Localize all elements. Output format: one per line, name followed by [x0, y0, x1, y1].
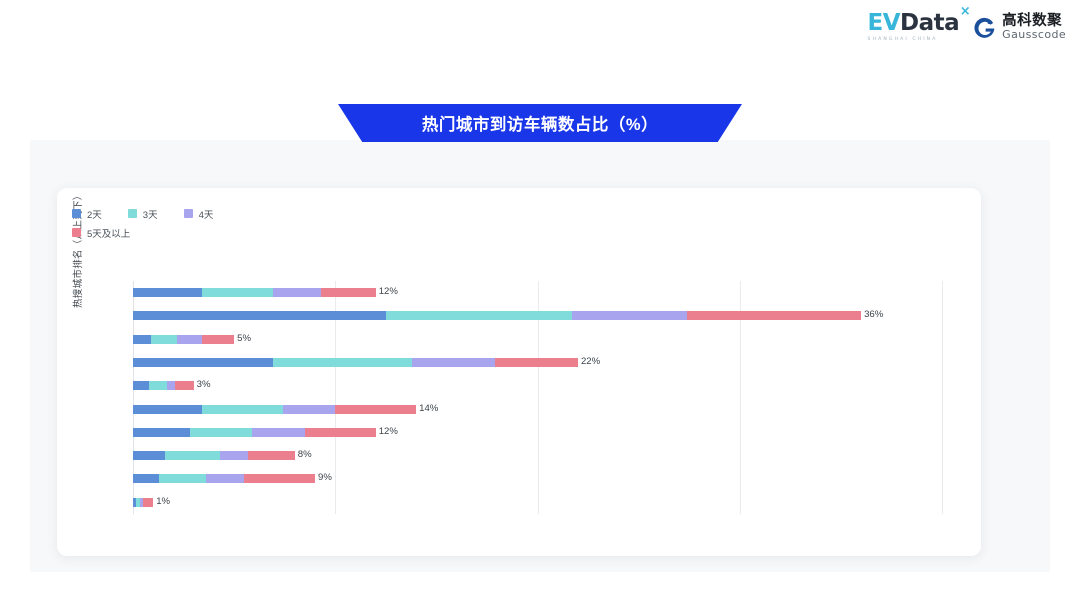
bar-segment-0[interactable]	[133, 288, 202, 297]
bar-segment-2[interactable]	[177, 335, 201, 344]
legend-item-1[interactable]: 3天	[128, 207, 158, 220]
bar-value-label: 12%	[376, 284, 398, 300]
legend-swatch-icon	[72, 209, 81, 218]
bar-segment-3[interactable]	[305, 428, 376, 437]
stacked-bar[interactable]	[133, 405, 416, 414]
bar-segment-0[interactable]	[133, 358, 273, 367]
bar-segment-0[interactable]	[133, 451, 165, 460]
gridline-40	[942, 281, 943, 514]
bar-segment-1[interactable]	[159, 474, 206, 483]
bar-segment-3[interactable]	[244, 474, 315, 483]
bar-row: 嘉兴22%	[133, 351, 942, 374]
stacked-bar[interactable]	[133, 358, 578, 367]
bar-segment-1[interactable]	[273, 358, 413, 367]
bar-segment-2[interactable]	[252, 428, 305, 437]
legend-item-label: 4天	[199, 207, 214, 221]
bar-value-label: 22%	[578, 354, 600, 370]
bar-segment-1[interactable]	[165, 451, 220, 460]
legend-item-3[interactable]: 5天及以上	[72, 226, 130, 239]
bar-segment-0[interactable]	[133, 335, 151, 344]
stacked-bar[interactable]	[133, 498, 153, 507]
bar-segment-2[interactable]	[206, 474, 244, 483]
bar-segment-2[interactable]	[273, 288, 322, 297]
bar-segment-0[interactable]	[133, 405, 202, 414]
bar-value-label: 9%	[315, 470, 332, 486]
bar-segment-3[interactable]	[495, 358, 578, 367]
chart-legend: 2天3天4天5天及以上	[72, 207, 472, 239]
bar-segment-3[interactable]	[143, 498, 153, 507]
stacked-bar[interactable]	[133, 474, 315, 483]
bar-segment-0[interactable]	[133, 381, 149, 390]
bar-segment-1[interactable]	[190, 428, 253, 437]
stacked-bar[interactable]	[133, 381, 194, 390]
stacked-bar[interactable]	[133, 335, 234, 344]
legend-swatch-icon	[128, 209, 137, 218]
legend-swatch-icon	[72, 228, 81, 237]
legend-item-2[interactable]: 4天	[184, 207, 214, 220]
bar-segment-1[interactable]	[151, 335, 177, 344]
bar-segment-0[interactable]	[133, 428, 190, 437]
stacked-bar[interactable]	[133, 288, 376, 297]
bar-segment-1[interactable]	[386, 311, 572, 320]
bar-value-label: 5%	[234, 331, 251, 347]
bar-row: 绍兴9%	[133, 467, 942, 490]
bar-segment-3[interactable]	[175, 381, 193, 390]
bar-value-label: 3%	[194, 377, 211, 393]
plot-area: 杭州12%苏州36%南京5%嘉兴22%舟山3%湖州14%无锡12%宁波8%绍兴9…	[133, 281, 942, 514]
legend-item-label: 5天及以上	[87, 226, 130, 240]
bar-segment-1[interactable]	[149, 381, 167, 390]
bar-segment-3[interactable]	[248, 451, 295, 460]
legend-swatch-icon	[184, 209, 193, 218]
bar-segment-2[interactable]	[412, 358, 495, 367]
stacked-bar[interactable]	[133, 311, 861, 320]
bar-segment-3[interactable]	[687, 311, 861, 320]
bar-row: 苏州36%	[133, 304, 942, 327]
bar-segment-2[interactable]	[220, 451, 248, 460]
bar-row: 舟山3%	[133, 374, 942, 397]
bar-row: 无锡12%	[133, 421, 942, 444]
page-title: 热门城市到访车辆数占比（%）	[422, 111, 658, 135]
bar-segment-3[interactable]	[321, 288, 376, 297]
stacked-bar[interactable]	[133, 451, 295, 460]
chart-title-ribbon: 热门城市到访车辆数占比（%）	[338, 104, 742, 142]
bar-value-label: 8%	[295, 447, 312, 463]
bar-segment-2[interactable]	[572, 311, 687, 320]
bar-value-label: 36%	[861, 307, 883, 323]
bar-segment-3[interactable]	[335, 405, 416, 414]
legend-item-label: 3天	[143, 207, 158, 221]
bar-row: 杭州12%	[133, 281, 942, 304]
legend-item-0[interactable]: 2天	[72, 207, 102, 220]
bar-segment-1[interactable]	[202, 288, 273, 297]
legend-item-label: 2天	[87, 207, 102, 221]
bar-segment-0[interactable]	[133, 311, 386, 320]
bar-row: 湖州14%	[133, 398, 942, 421]
bar-row: 南京5%	[133, 328, 942, 351]
stacked-bar[interactable]	[133, 428, 376, 437]
bar-value-label: 12%	[376, 424, 398, 440]
bar-value-label: 1%	[153, 494, 170, 510]
bar-segment-2[interactable]	[283, 405, 336, 414]
chart-plot: 热搜城市排名（从上到下） 杭州12%苏州36%南京5%嘉兴22%舟山3%湖州14…	[0, 0, 1080, 608]
bar-segment-0[interactable]	[133, 474, 159, 483]
bar-value-label: 14%	[416, 401, 438, 417]
bar-segment-3[interactable]	[202, 335, 234, 344]
bar-segment-1[interactable]	[202, 405, 283, 414]
bar-row: 宁波8%	[133, 444, 942, 467]
bar-segment-2[interactable]	[167, 381, 175, 390]
bar-row: 黄山1%	[133, 491, 942, 514]
